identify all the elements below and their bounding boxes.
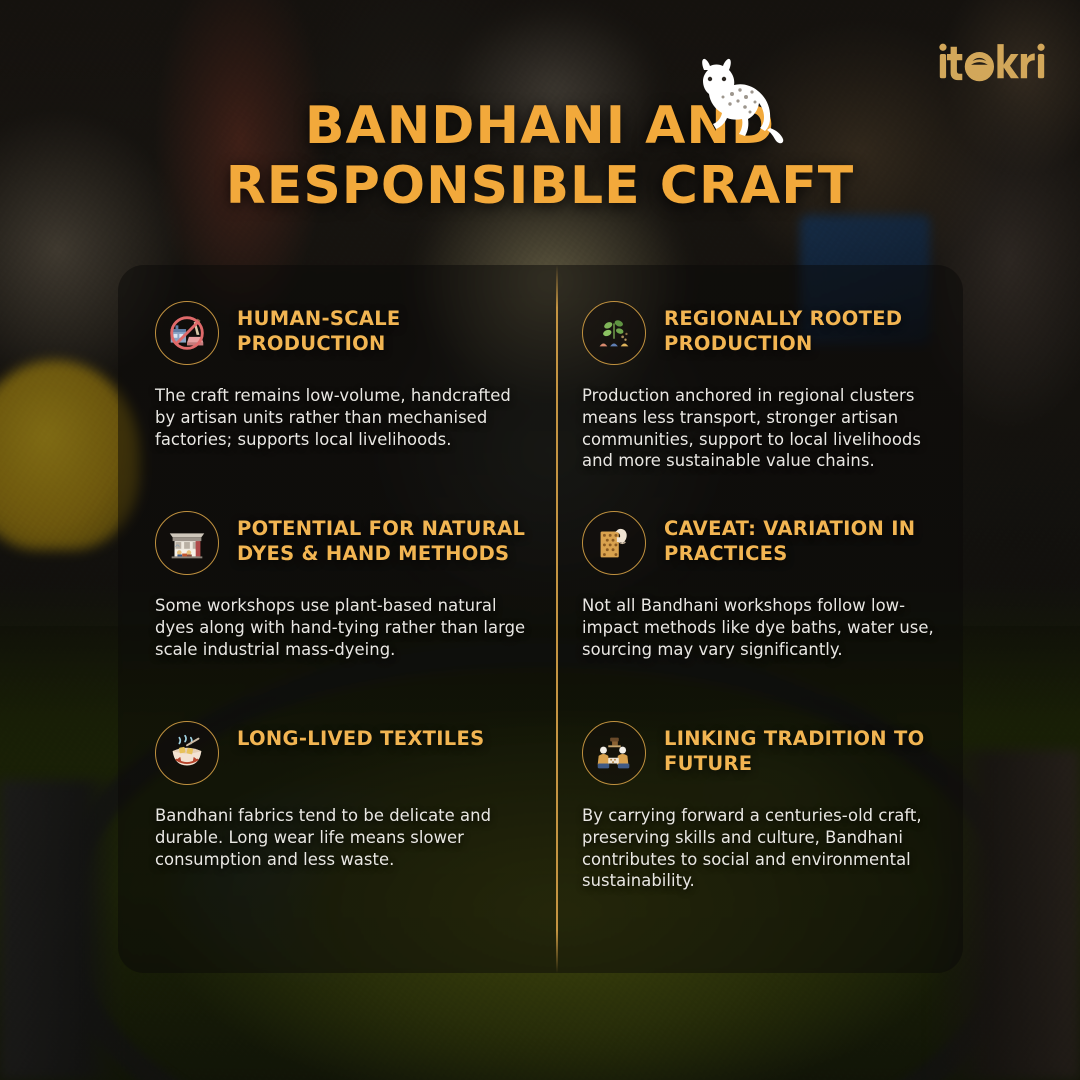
card-header: LINKING TRADITION TO FUTURE [582,721,947,785]
card-human-scale-production[interactable]: HUMAN-SCALE PRODUCTION The craft remains… [118,265,556,475]
cards-grid: HUMAN-SCALE PRODUCTION The craft remains… [118,265,963,973]
card-title: LINKING TRADITION TO FUTURE [664,721,947,776]
card-header: CAVEAT: VARIATION IN PRACTICES [582,511,947,575]
card-potential-for-natural-dyes[interactable]: POTENTIAL FOR NATURAL DYES & HAND METHOD… [118,475,556,685]
card-body: The craft remains low-volume, handcrafte… [155,385,532,450]
card-body: Production anchored in regional clusters… [582,385,947,472]
steaming-dye-pot-icon [155,721,219,785]
page-title: BANDHANI AND RESPONSIBLE CRAFT [0,96,1080,217]
card-header: LONG-LIVED TEXTILES [155,721,532,785]
card-body: By carrying forward a centuries-old craf… [582,805,947,892]
card-header: HUMAN-SCALE PRODUCTION [155,301,532,365]
card-regionally-rooted-production[interactable]: REGIONALLY ROOTED PRODUCTION Production … [556,265,963,475]
card-title: LONG-LIVED TEXTILES [237,721,485,752]
content-panel: HUMAN-SCALE PRODUCTION The craft remains… [118,265,963,973]
card-long-lived-textiles[interactable]: LONG-LIVED TEXTILES Bandhani fabrics ten… [118,685,556,973]
seedling-and-dye-piles-icon [582,301,646,365]
itokri-logo[interactable]: itokri [938,40,1046,86]
infographic-canvas: itokri BANDHANI AND RESPONSIBLE CRAFT [0,0,1080,1080]
card-header: POTENTIAL FOR NATURAL DYES & HAND METHOD… [155,511,532,575]
no-factory-icon [155,301,219,365]
artisan-workshop-building-icon [155,511,219,575]
card-title: CAVEAT: VARIATION IN PRACTICES [664,511,947,566]
card-body: Some workshops use plant-based natural d… [155,595,532,660]
title-line-2: RESPONSIBLE CRAFT [0,156,1080,216]
card-body: Not all Bandhani workshops follow low-im… [582,595,947,660]
card-header: REGIONALLY ROOTED PRODUCTION [582,301,947,365]
card-title: REGIONALLY ROOTED PRODUCTION [664,301,947,356]
card-linking-tradition-to-future[interactable]: LINKING TRADITION TO FUTURE By carrying … [556,685,963,973]
basket-o-logo-icon [938,43,1046,83]
card-body: Bandhani fabrics tend to be delicate and… [155,805,532,870]
card-caveat-variation-in-practices[interactable]: CAVEAT: VARIATION IN PRACTICES Not all B… [556,475,963,685]
two-artisans-working-icon [582,721,646,785]
hand-holding-patterned-fabric-icon [582,511,646,575]
card-title: POTENTIAL FOR NATURAL DYES & HAND METHOD… [237,511,532,566]
card-title: HUMAN-SCALE PRODUCTION [237,301,532,356]
title-line-1: BANDHANI AND [0,96,1080,156]
